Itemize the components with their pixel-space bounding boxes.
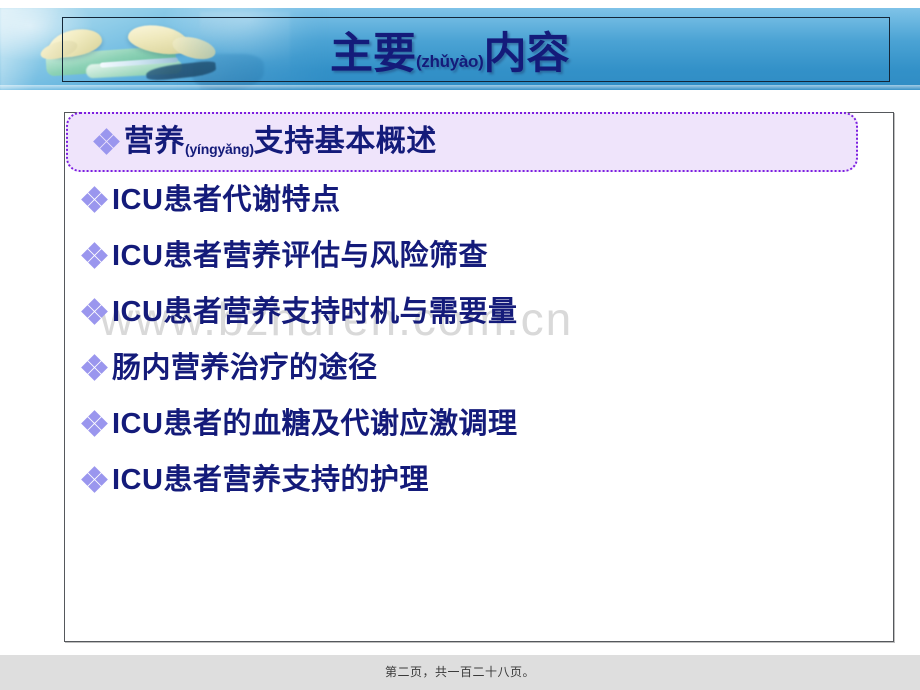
slide-root: 主要(zhǔyào)内容 www.bzhuren.com.cn 营养(yíngy… <box>0 0 920 690</box>
list-item-enteral-nutrition-routes[interactable]: 肠内营养治疗的途径 <box>64 340 894 396</box>
diamond-bullet-icon <box>82 299 108 325</box>
title-main-second: 内容 <box>483 33 569 76</box>
list-item-label: 肠内营养治疗的途径 <box>112 354 378 383</box>
label-prefix: 营养 <box>124 125 185 158</box>
list-item-label: ICU患者的血糖及代谢应激调理 <box>112 410 517 439</box>
label-suffix: 支持基本概述 <box>254 125 437 158</box>
label-pinyin: (yíngyǎng) <box>185 141 254 157</box>
list-item-label: ICU患者代谢特点 <box>112 186 340 215</box>
list-item-icu-timing-requirement[interactable]: ICU患者营养支持时机与需要量 <box>64 284 894 340</box>
list-item-icu-nutrition-assessment[interactable]: ICU患者营养评估与风险筛查 <box>64 228 894 284</box>
list-item-label: ICU患者营养支持的护理 <box>112 466 429 495</box>
list-item-label: ICU患者营养支持时机与需要量 <box>112 298 517 327</box>
slide-header-band: 主要(zhǔyào)内容 <box>0 8 920 90</box>
list-item-label: 营养(yíngyǎng)支持基本概述 <box>124 127 437 157</box>
diamond-bullet-icon <box>82 411 108 437</box>
diamond-bullet-icon <box>82 187 108 213</box>
list-item-label: ICU患者营养评估与风险筛查 <box>112 242 488 271</box>
outline-list: 营养(yíngyǎng)支持基本概述 ICU患者代谢特点 ICU患者营养评估与风… <box>64 112 894 508</box>
page-title: 主要(zhǔyào)内容 <box>330 26 830 82</box>
title-main-first: 主要 <box>330 33 416 76</box>
diamond-bullet-icon <box>82 467 108 493</box>
list-item-icu-glucose-stress[interactable]: ICU患者的血糖及代谢应激调理 <box>64 396 894 452</box>
diamond-bullet-icon <box>82 355 108 381</box>
list-item-icu-nutrition-nursing[interactable]: ICU患者营养支持的护理 <box>64 452 894 508</box>
list-item-icu-metabolism[interactable]: ICU患者代谢特点 <box>64 172 894 228</box>
surgical-photo <box>0 8 330 90</box>
diamond-bullet-icon <box>94 129 120 155</box>
list-item-nutrition-overview[interactable]: 营养(yíngyǎng)支持基本概述 <box>66 112 858 172</box>
title-pinyin: (zhǔyào) <box>416 53 483 70</box>
page-number-note: 第二页，共一百二十八页。 <box>0 663 920 680</box>
diamond-bullet-icon <box>82 243 108 269</box>
